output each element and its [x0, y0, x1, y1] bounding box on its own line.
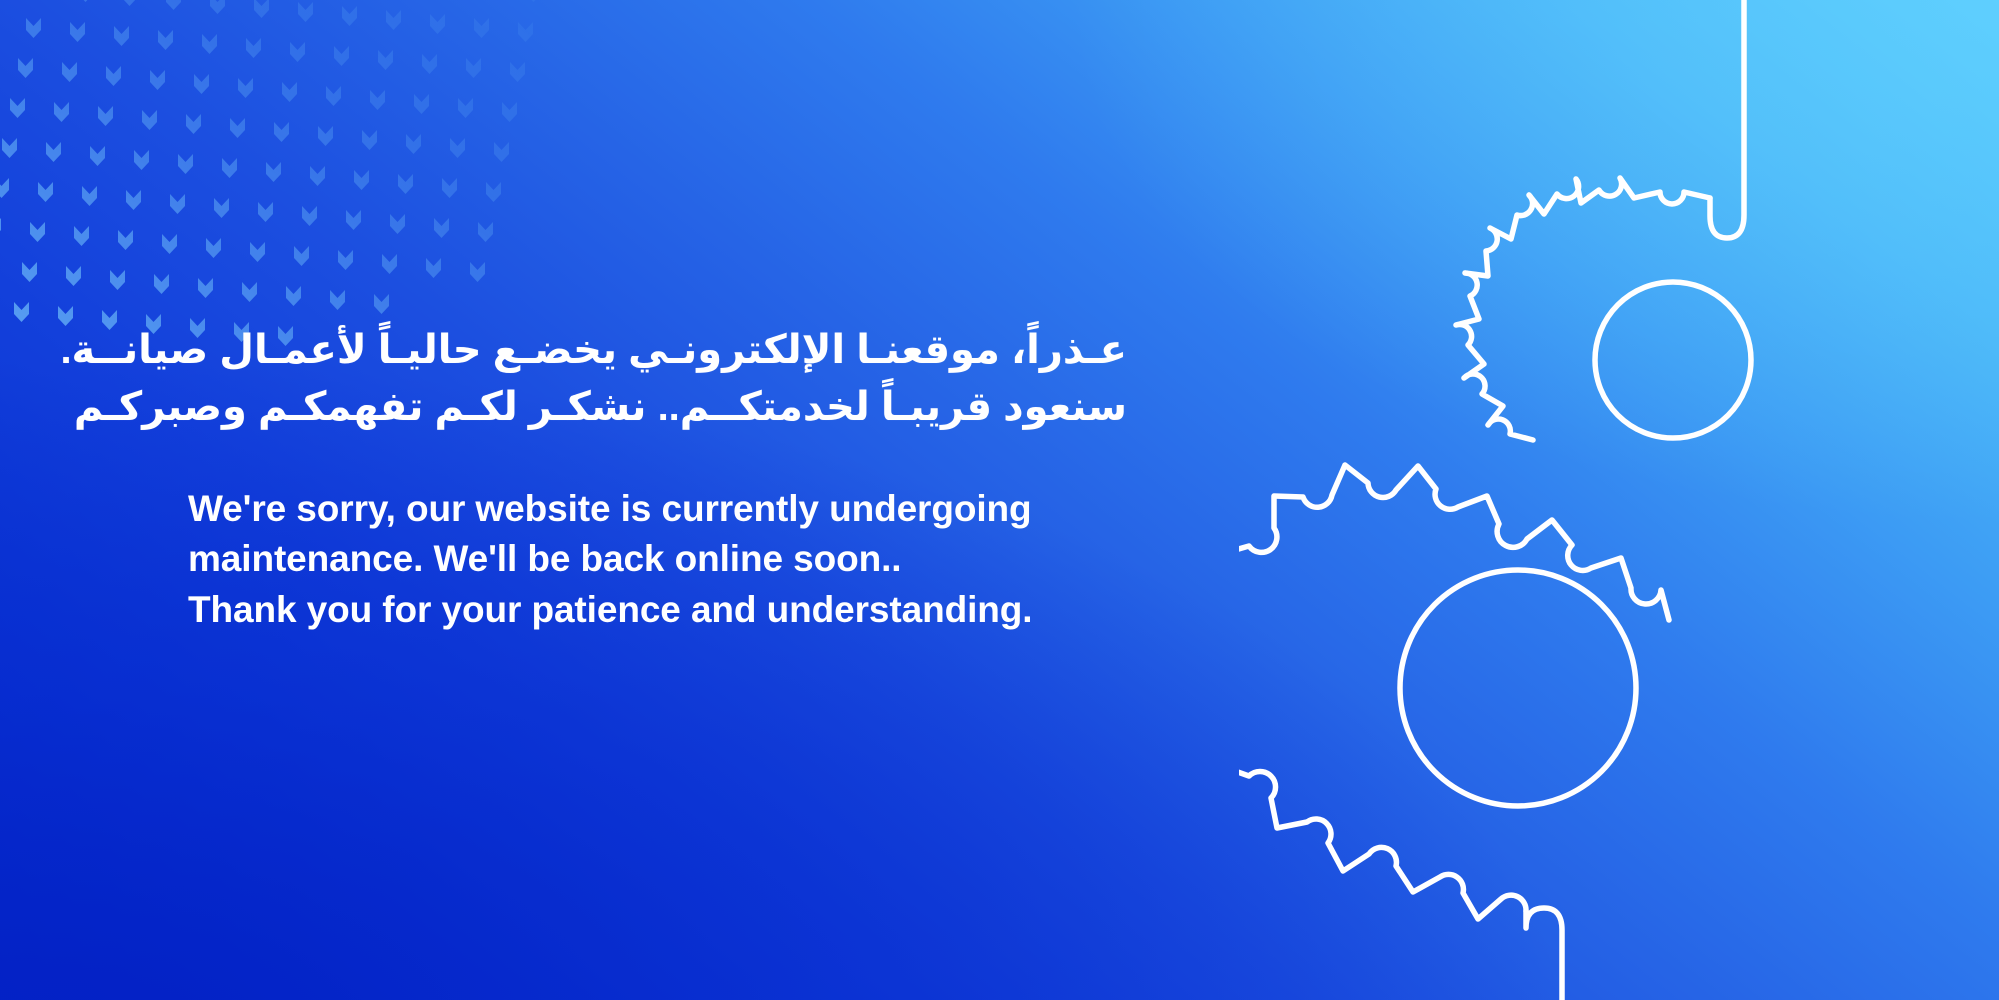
- english-line-1: We're sorry, our website is currently un…: [188, 484, 1188, 535]
- english-message: We're sorry, our website is currently un…: [188, 484, 1188, 636]
- arabic-line-1: عـذراً، موقعنـا الإلكترونـي يخضـع حاليـا…: [187, 322, 1127, 379]
- english-line-2: maintenance. We'll be back online soon..: [188, 534, 1188, 585]
- english-line-3: Thank you for your patience and understa…: [188, 585, 1188, 636]
- arabic-line-2: سنعود قريبـاً لخدمتكــم.. نشكـر لكـم تفه…: [187, 379, 1127, 436]
- arabic-message: عـذراً، موقعنـا الإلكترونـي يخضـع حاليـا…: [187, 322, 1127, 436]
- maintenance-message-block: عـذراً، موقعنـا الإلكترونـي يخضـع حاليـا…: [188, 322, 1188, 636]
- maintenance-page: عـذراً، موقعنـا الإلكترونـي يخضـع حاليـا…: [0, 0, 1999, 1000]
